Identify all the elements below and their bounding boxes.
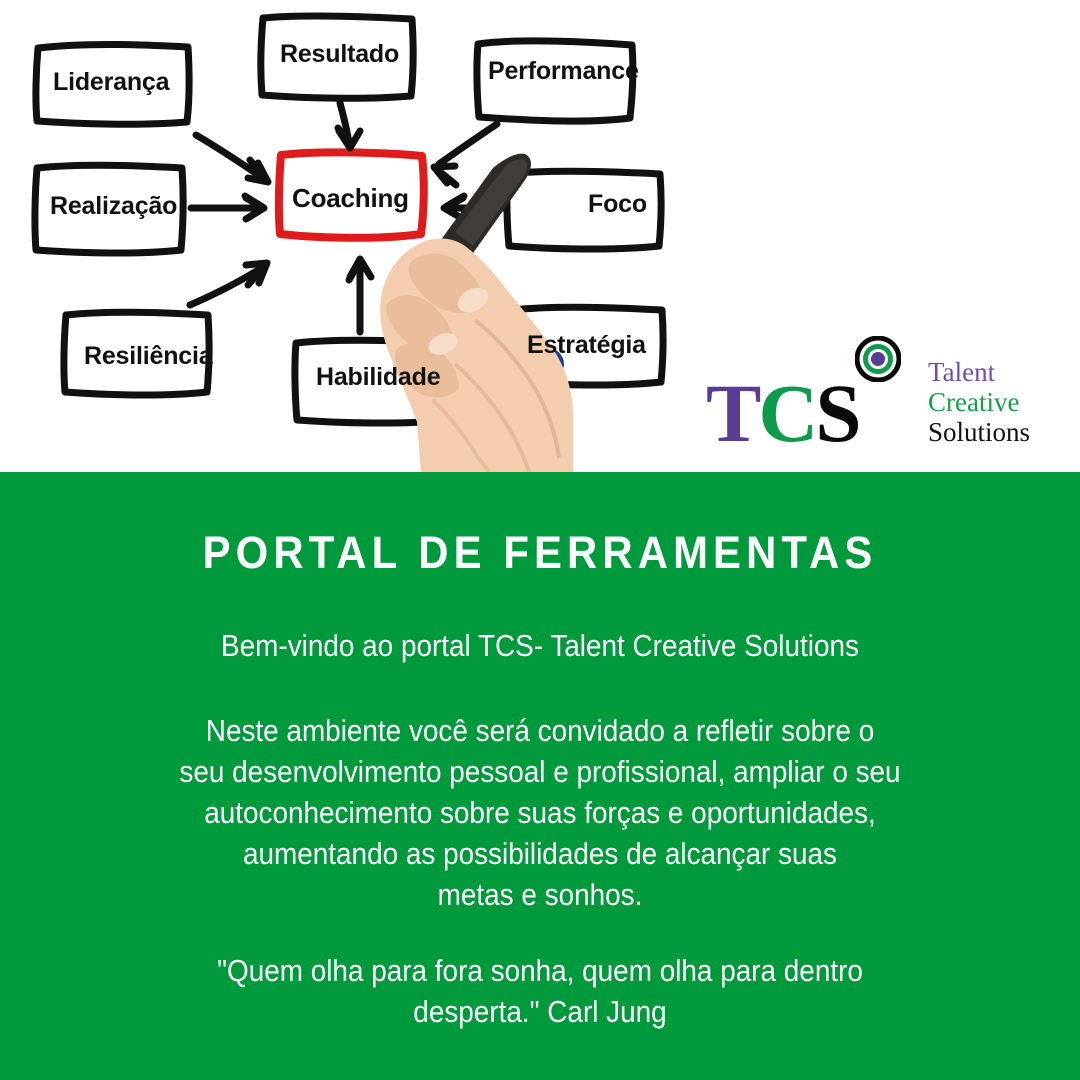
quote-text: "Quem olha para fora sonha, quem olha pa…	[135, 950, 945, 1032]
page-title: PORTAL DE FERRAMENTAS	[38, 528, 1042, 578]
arrow-lideranca	[196, 135, 266, 180]
target-circle-icon	[855, 336, 901, 382]
node-label-estrategia: Estratégia	[527, 331, 646, 360]
logo-letter-s: S	[815, 367, 858, 459]
logo-tagline: Talent Creative Solutions	[928, 357, 1030, 447]
body-paragraph: Neste ambiente você será convidado a ref…	[135, 710, 945, 915]
hero-image: .bx { fill:#ffffff; stroke:#111111; stro…	[0, 0, 1080, 472]
quote-line: desperta." Carl Jung	[135, 991, 945, 1032]
node-label-habilidade: Habilidade	[316, 363, 440, 392]
node-label-foco: Foco	[588, 190, 647, 219]
poster-page: .bx { fill:#ffffff; stroke:#111111; stro…	[0, 0, 1080, 1080]
body-line: Neste ambiente você será convidado a ref…	[135, 710, 945, 751]
arrow-resiliencia	[190, 267, 263, 305]
node-label-performance: Performance	[488, 57, 639, 86]
tcs-logo: TCS Talent Creative Solutions	[700, 330, 1060, 460]
node-label-lideranca: Liderança	[53, 68, 169, 97]
logo-word-talent: Talent	[928, 357, 1030, 387]
logo-letter-c: C	[758, 367, 815, 459]
logo-word-solutions: Solutions	[928, 417, 1030, 447]
body-line: seu desenvolvimento pessoal e profission…	[135, 751, 945, 792]
node-label-resultado: Resultado	[280, 40, 399, 69]
logo-word-creative: Creative	[928, 387, 1030, 417]
green-content-panel: PORTAL DE FERRAMENTAS Bem-vindo ao porta…	[0, 472, 1080, 1080]
node-label-coaching: Coaching	[292, 183, 409, 214]
node-label-realizacao: Realização	[50, 192, 177, 221]
body-line: autoconhecimento sobre suas forças e opo…	[135, 792, 945, 833]
body-line: metas e sonhos.	[135, 874, 945, 915]
quote-line: "Quem olha para fora sonha, quem olha pa…	[135, 950, 945, 991]
logo-letter-t: T	[706, 367, 758, 459]
logo-wordmark: TCS	[706, 372, 859, 455]
node-label-resiliencia: Resiliência	[84, 342, 212, 371]
welcome-text: Bem-vindo ao portal TCS- Talent Creative…	[54, 627, 1026, 665]
body-line: aumentando as possibilidades de alcançar…	[135, 833, 945, 874]
